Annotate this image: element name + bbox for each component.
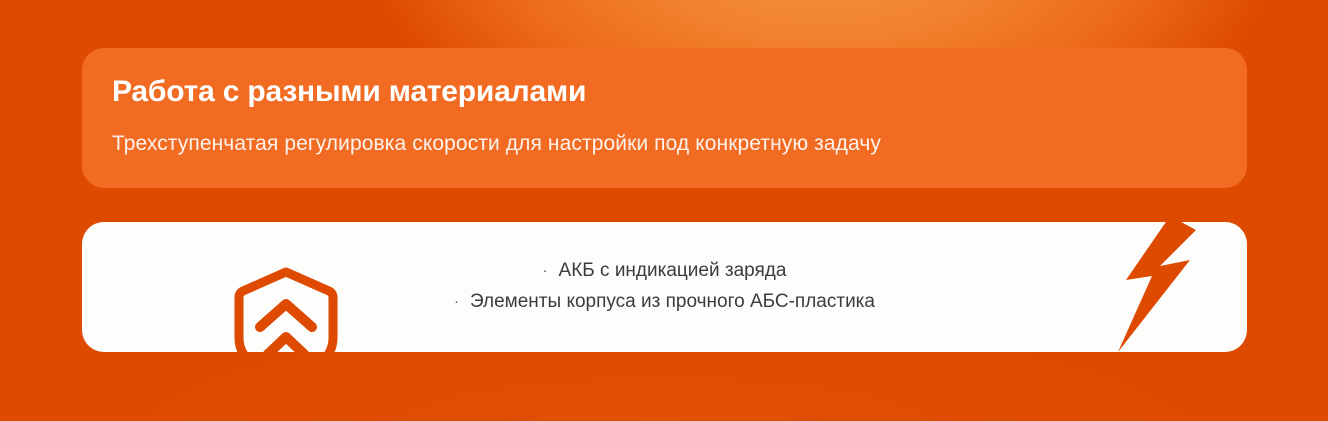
headline-card: Работа с разными материалами Трехступенч… [82, 48, 1247, 188]
headline-subtitle: Трехступенчатая регулировка скорости для… [112, 110, 1217, 157]
promo-banner: Работа с разными материалами Трехступенч… [0, 0, 1328, 421]
headline-title: Работа с разными материалами [112, 74, 1217, 110]
list-item: · Элементы корпуса из прочного АБС-пласт… [454, 290, 875, 315]
feature-list: · АКБ с индикацией заряда · Элементы кор… [82, 222, 1247, 352]
bullet-icon: · [543, 263, 548, 278]
features-card: · АКБ с индикацией заряда · Элементы кор… [82, 222, 1247, 352]
list-item-label: АКБ с индикацией заряда [559, 259, 787, 284]
list-item: · АКБ с индикацией заряда [543, 259, 787, 284]
bullet-icon: · [454, 294, 459, 309]
list-item-label: Элементы корпуса из прочного АБС-пластик… [470, 290, 875, 315]
